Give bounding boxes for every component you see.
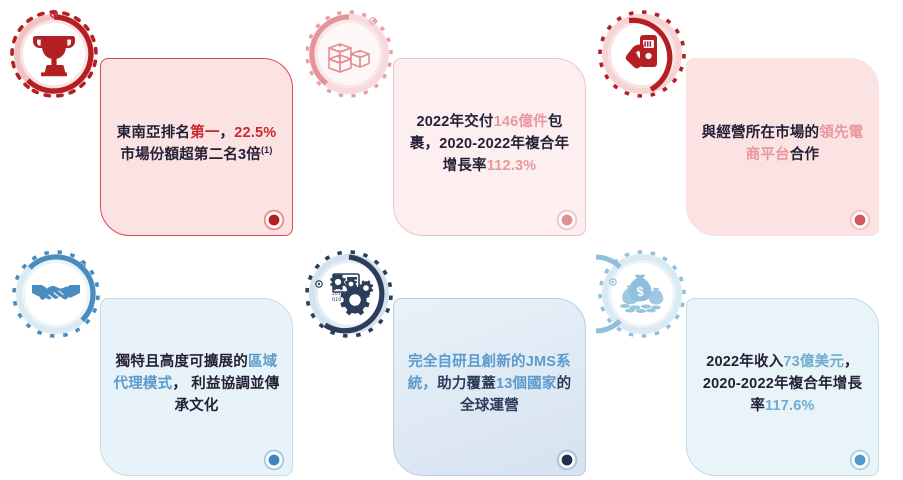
card-6-corner-dot	[849, 449, 871, 471]
text-segment: 73億美元	[783, 354, 844, 370]
text-segment: 22.5%	[234, 125, 276, 141]
card-5-text: 完全自研且創新的JMS系統，助力覆蓋13個國家的全球運營	[394, 351, 585, 429]
text-segment: 與經營所在市場的	[702, 125, 820, 141]
card-3-corner-dot	[849, 209, 871, 231]
card-2-corner-dot	[556, 209, 578, 231]
text-segment: 助力覆蓋	[437, 376, 496, 392]
text-segment: 合作	[790, 147, 819, 163]
text-segment: 東南亞排名	[117, 125, 191, 141]
text-segment: 13個國	[496, 376, 542, 392]
text-segment: 146億件	[494, 114, 548, 130]
text-segment: (1)	[261, 145, 273, 155]
text-segment: 獨特且高度可擴展的	[116, 354, 248, 370]
card-1-corner-dot	[263, 209, 285, 231]
text-segment: 2022年交付	[416, 114, 493, 130]
card-3-text: 與經營所在市場的領先電商平台合作	[687, 122, 878, 178]
text-segment: 市場份額超第二名	[120, 147, 238, 163]
card-4-corner-dot	[263, 449, 285, 471]
boxes-icon	[303, 8, 395, 100]
text-segment: ， 利益協調並傳承文化	[172, 376, 279, 414]
card-4-text: 獨特且高度可擴展的區域代理模式， 利益協調並傳承文化	[101, 351, 292, 429]
card-6-text: 2022年收入73億美元，2020-2022年複合年增長率117.6%	[687, 351, 878, 429]
handshake-icon	[10, 248, 102, 340]
card-5-corner-dot	[556, 449, 578, 471]
text-segment: 3倍	[238, 147, 261, 163]
text-segment: 117.6%	[765, 398, 815, 414]
card-1-text: 東南亞排名第一，22.5%市場份額超第二名3倍(1)	[101, 122, 292, 178]
text-segment: 第一	[190, 125, 219, 141]
text-segment: 112.3%	[487, 158, 537, 174]
gears-system-icon: IO IOIOI OIO	[303, 248, 395, 340]
trophy-icon	[8, 8, 100, 100]
text-segment: 家	[542, 376, 557, 392]
handheld-scanner-icon	[596, 8, 688, 100]
text-segment: 2022年收入	[706, 354, 783, 370]
text-segment: ，	[220, 125, 235, 141]
infographic-board: 東南亞排名第一，22.5%市場份額超第二名3倍(1)	[0, 0, 903, 480]
card-2-text: 2022年交付146億件包裹，2020-2022年複合年增長率112.3%	[394, 111, 585, 189]
money-bags-icon: $	[596, 248, 688, 340]
svg-text:OIO: OIO	[332, 297, 341, 303]
